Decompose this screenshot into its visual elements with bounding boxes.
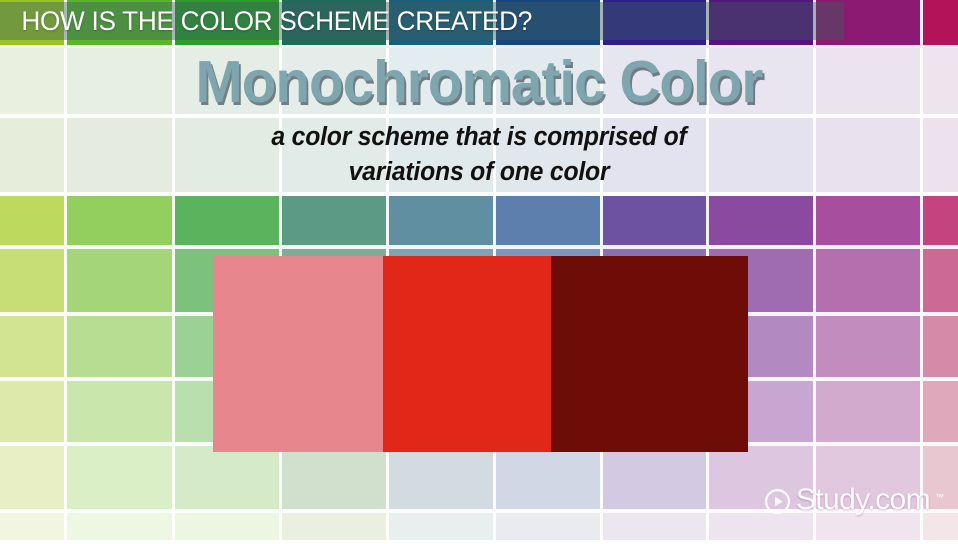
- pure-red: [383, 256, 551, 452]
- palette-cell: [816, 196, 923, 249]
- play-circle-icon: [764, 488, 791, 515]
- definition-line-2: variations of one color: [14, 155, 943, 190]
- palette-cell: [923, 316, 958, 381]
- palette-cell: [389, 0, 496, 48]
- palette-cell: [816, 316, 923, 381]
- palette-cell: [67, 513, 175, 544]
- palette-cell: [816, 249, 923, 316]
- palette-cell: [923, 513, 958, 544]
- palette-cell: [67, 0, 175, 48]
- palette-cell: [175, 513, 282, 544]
- palette-cell: [0, 446, 67, 513]
- palette-cell: [709, 0, 816, 48]
- palette-cell: [67, 381, 175, 446]
- definition-text: a color scheme that is comprised of vari…: [14, 120, 943, 190]
- palette-cell: [282, 513, 389, 544]
- palette-cell: [282, 0, 389, 48]
- palette-cell: [709, 196, 816, 249]
- palette-cell: [923, 249, 958, 316]
- palette-cell: [603, 0, 709, 48]
- palette-cell: [496, 0, 603, 48]
- light-red-tint: [213, 256, 383, 452]
- palette-cell: [603, 513, 709, 544]
- palette-cell: [389, 513, 496, 544]
- palette-cell: [67, 196, 175, 249]
- palette-cell: [923, 381, 958, 446]
- definition-line-1: a color scheme that is comprised of: [14, 120, 943, 155]
- palette-cell: [816, 381, 923, 446]
- palette-cell: [0, 196, 67, 249]
- palette-cell: [67, 446, 175, 513]
- palette-cell: [816, 0, 923, 48]
- palette-cell: [496, 446, 603, 513]
- palette-cell: [67, 316, 175, 381]
- palette-cell: [0, 249, 67, 316]
- palette-cell: [282, 196, 389, 249]
- palette-cell: [0, 316, 67, 381]
- study-com-logo: Study.com ™: [764, 486, 944, 516]
- monochromatic-swatch-group: [213, 256, 748, 452]
- palette-cell: [389, 446, 496, 513]
- palette-cell: [175, 0, 282, 48]
- palette-cell: [67, 249, 175, 316]
- logo-trademark: ™: [935, 492, 944, 502]
- palette-cell: [603, 196, 709, 249]
- logo-wordmark: Study.com: [796, 485, 930, 515]
- palette-cell: [282, 446, 389, 513]
- palette-cell: [0, 513, 67, 544]
- palette-cell: [0, 0, 67, 48]
- main-heading: Monochromatic Color: [19, 48, 939, 118]
- palette-cell: [175, 446, 282, 513]
- palette-cell: [389, 196, 496, 249]
- palette-cell: [0, 381, 67, 446]
- palette-cell: [816, 513, 923, 544]
- palette-cell: [923, 0, 958, 48]
- palette-cell: [603, 446, 709, 513]
- dark-red-shade: [551, 256, 748, 452]
- palette-cell: [496, 196, 603, 249]
- palette-cell: [496, 513, 603, 544]
- palette-cell: [709, 513, 816, 544]
- palette-cell: [923, 196, 958, 249]
- palette-cell: [175, 196, 282, 249]
